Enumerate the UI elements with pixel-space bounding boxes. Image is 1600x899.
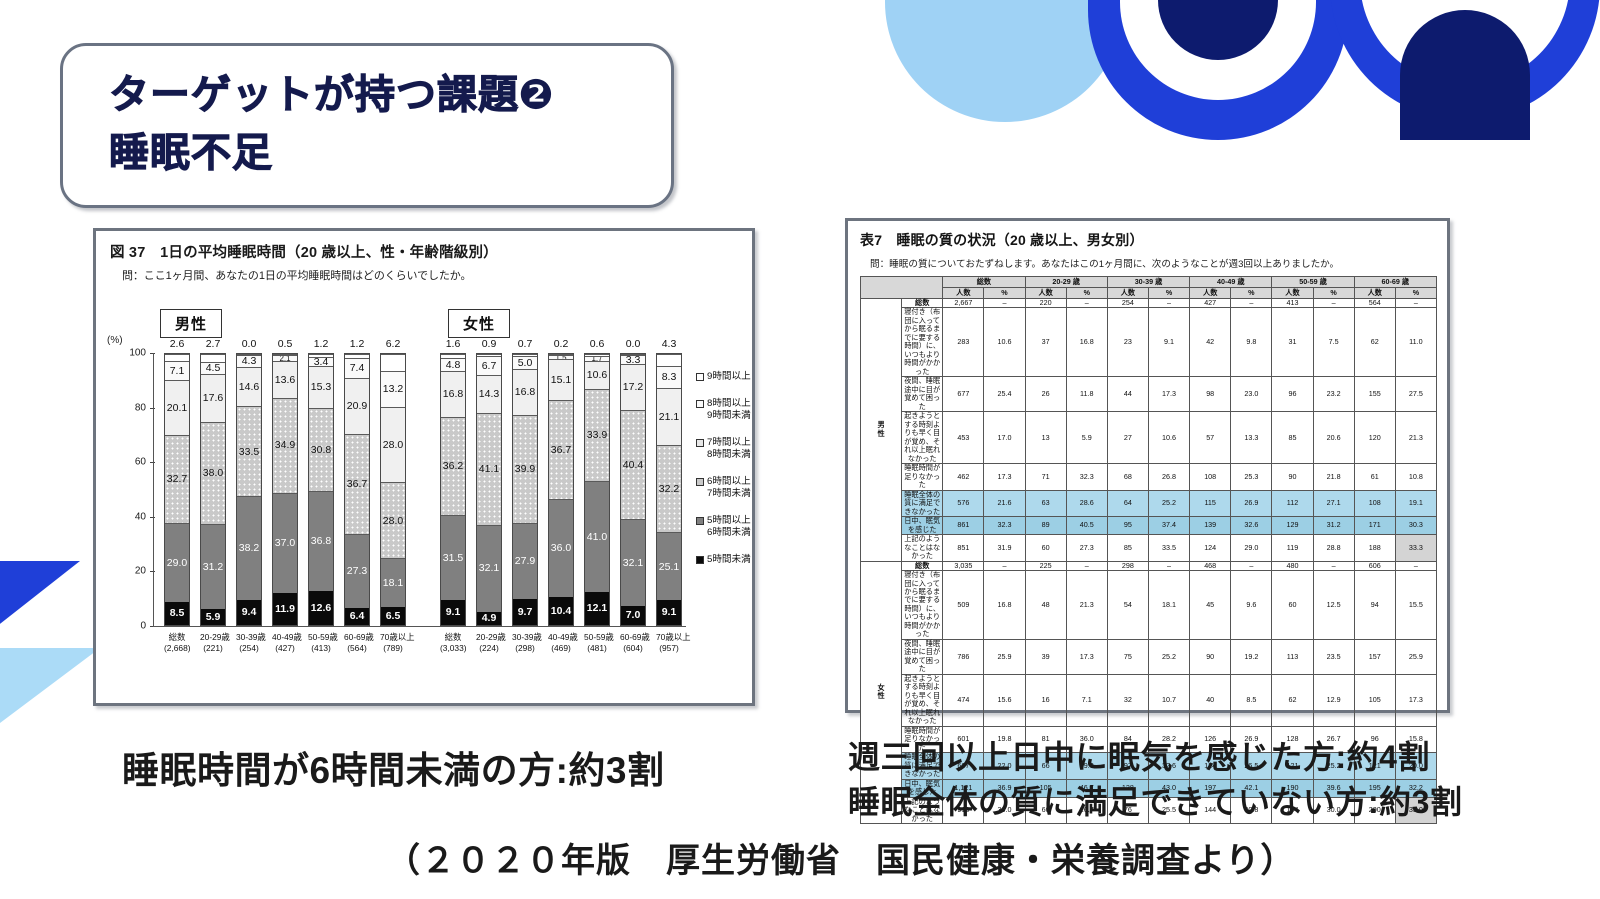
- x-axis-category-label: 20-29歳(221): [200, 632, 226, 655]
- table-item-label: 睡眠時間が足りなかった: [902, 464, 943, 490]
- bar-group: 4.39.125.132.221.18.370歳以上(957): [656, 353, 682, 626]
- stacked-bar-plot: 020406080100 2.68.529.032.720.17.1総数(2,6…: [126, 353, 686, 626]
- table-percent-cell: 10.8: [1395, 464, 1436, 490]
- x-label-name: 50-59歳: [584, 632, 614, 642]
- bar-segment-value: 36.7: [551, 445, 571, 456]
- table-head-row-ages: 総数20-29 歳30-39 歳40-49 歳50-59 歳60-69 歳: [861, 277, 1437, 288]
- table-sub-header: %: [1148, 288, 1189, 299]
- table-count-cell: 564: [1354, 299, 1395, 308]
- table-count-cell: 68: [1107, 464, 1148, 490]
- x-label-count: (957): [659, 643, 679, 653]
- table-count-cell: 157: [1354, 639, 1395, 674]
- bar-group: 0.511.937.034.913.62.140-49歳(427): [272, 353, 298, 626]
- table-percent-cell: 15.5: [1395, 571, 1436, 640]
- table-percent-cell: 21.3: [1066, 571, 1107, 640]
- bar-group: 0.210.436.036.715.11.540-49歳(469): [548, 353, 574, 626]
- bar-segment: 33.5: [237, 406, 261, 496]
- table-head: 総数20-29 歳30-39 歳40-49 歳50-59 歳60-69 歳 人数…: [861, 277, 1437, 299]
- table-count-cell: 63: [1025, 490, 1066, 516]
- table-percent-cell: 7.1: [1066, 674, 1107, 726]
- table-item-label: 寝付き（布団に入ってから眠るまでに要する時間）に、いつもより時間がかかった: [902, 308, 943, 377]
- table-percent-cell: 25.9: [1395, 639, 1436, 674]
- bar-segment-value: 37.0: [275, 538, 295, 549]
- y-tick-label: 100: [129, 348, 146, 359]
- bar-segment: 16.8: [441, 371, 465, 417]
- table-percent-cell: –: [1066, 299, 1107, 308]
- bar-segment-value: 18.1: [383, 578, 403, 589]
- table-item-label: 夜間、睡眠途中に目が覚めて困った: [902, 377, 943, 412]
- bar-segment-value: 12.6: [311, 603, 331, 614]
- table-count-cell: 16: [1025, 674, 1066, 726]
- legend-swatch-icon: [696, 400, 704, 408]
- x-label-name: 60-69歳: [620, 632, 650, 642]
- bar-segment-value: 7.1: [170, 366, 185, 377]
- table-count-cell: 42: [1190, 308, 1231, 377]
- table-sub-header: 人数: [1025, 288, 1066, 299]
- bar-segment-value: 10.6: [587, 370, 607, 381]
- bar-segment-value: 27.3: [347, 566, 367, 577]
- table-percent-cell: 7.5: [1313, 308, 1354, 377]
- figure-question: 問：ここ1ヶ月間、あなたの1日の平均睡眠時間はどのくらいでしたか。: [122, 267, 744, 283]
- table-item-label: 夜間、睡眠途中に目が覚めて困った: [902, 639, 943, 674]
- bar-segment: 12.6: [309, 591, 333, 625]
- table-count-cell: 254: [1107, 299, 1148, 308]
- x-label-count: (604): [623, 643, 643, 653]
- stacked-bar: 9.727.939.916.85.0: [512, 353, 538, 626]
- slide-title-line-2: 睡眠不足: [109, 124, 671, 182]
- stacked-bar: 9.438.233.514.64.3: [236, 353, 262, 626]
- caption-source: （２０２０年版 厚生労働省 国民健康・栄養調査より）: [386, 833, 1295, 882]
- stacked-bar: 12.636.830.815.33.4: [308, 353, 334, 626]
- x-label-name: 60-69歳: [344, 632, 374, 642]
- bar-segment-value: 36.7: [347, 479, 367, 490]
- bar-segment: 6.7: [477, 356, 501, 374]
- table-count-cell: 37: [1025, 308, 1066, 377]
- figure-title: 図 37 1日の平均睡眠時間（20 歳以上、性・年齢階級別）: [110, 241, 744, 262]
- table-count-cell: 108: [1190, 464, 1231, 490]
- table-age-header: 総数: [943, 277, 1025, 288]
- bar-segment: [237, 354, 261, 355]
- figure-label-male: 男性: [160, 309, 222, 338]
- bar-top-value-label: 2.7: [200, 338, 226, 350]
- table-count-cell: 188: [1354, 535, 1395, 561]
- x-label-name: 30-39歳: [236, 632, 266, 642]
- legend-label: 6時間以上7時間未満: [707, 476, 751, 500]
- x-label-count: (564): [347, 643, 367, 653]
- table-count-cell: 462: [943, 464, 984, 490]
- table-count-cell: 32: [1107, 674, 1148, 726]
- table-percent-cell: 21.8: [1313, 464, 1354, 490]
- table-sub-header: 人数: [1107, 288, 1148, 299]
- bar-segment: 30.8: [309, 408, 333, 491]
- table-count-cell: 85: [1107, 535, 1148, 561]
- bar-segment-value: 10.4: [551, 606, 571, 617]
- table-percent-cell: 25.2: [1148, 639, 1189, 674]
- table-percent-cell: 27.1: [1313, 490, 1354, 516]
- bar-segment: [201, 354, 225, 361]
- bar-segment: 40.4: [621, 410, 645, 519]
- bar-segment-value: 9.7: [518, 607, 533, 618]
- bar-segment-value: 13.6: [275, 375, 295, 386]
- bar-segment-value: 28.0: [383, 440, 403, 451]
- table-count-cell: 171: [1354, 517, 1395, 535]
- table-percent-cell: 26.9: [1231, 490, 1272, 516]
- bar-segment-value: 1.7: [591, 356, 602, 361]
- table-count-cell: 220: [1025, 299, 1066, 308]
- bar-group: 0.79.727.939.916.85.030-39歳(298): [512, 353, 538, 626]
- bar-group: 0.612.141.033.910.61.750-59歳(481): [584, 353, 610, 626]
- table-count-cell: 225: [1025, 561, 1066, 570]
- table-percent-cell: 32.3: [984, 517, 1025, 535]
- bar-group: 0.07.032.140.417.23.360-69歳(604): [620, 353, 646, 626]
- table-row: 男性総数2,667–220–254–427–413–564–: [861, 299, 1437, 308]
- x-label-name: 30-39歳: [512, 632, 542, 642]
- x-label-count: (413): [311, 643, 331, 653]
- bar-segment: 14.3: [477, 375, 501, 414]
- bar-segment-value: 1.5: [555, 355, 566, 359]
- bar-segment-value: 4.5: [206, 363, 221, 374]
- bar-segment-value: 13.2: [383, 384, 403, 395]
- table-percent-cell: 32.3: [1066, 464, 1107, 490]
- bar-segment: 15.1: [549, 359, 573, 400]
- table-item-label: 起きようとする時刻よりも早く目が覚め、それ以上眠れなかった: [902, 412, 943, 464]
- bar-segment: 5.9: [201, 609, 225, 625]
- bar-segment: [585, 354, 609, 356]
- bar-segment-value: 4.9: [482, 613, 497, 624]
- table-count-cell: 108: [1354, 490, 1395, 516]
- bar-segment-value: 17.2: [623, 382, 643, 393]
- x-axis-category-label: 30-39歳(254): [236, 632, 262, 655]
- bar-segment-value: 7.4: [350, 363, 365, 374]
- bar-segment: 1.5: [549, 355, 573, 359]
- x-label-count: (481): [587, 643, 607, 653]
- bar-segment-value: 15.1: [551, 375, 571, 386]
- bar-segment-value: 32.2: [659, 484, 679, 495]
- table-count-cell: 120: [1354, 412, 1395, 464]
- table-count-cell: 90: [1272, 464, 1313, 490]
- bar-segment: [345, 354, 369, 357]
- bar-top-value-label: 0.6: [584, 338, 610, 350]
- bar-segment-value: 16.8: [515, 387, 535, 398]
- legend-label: 9時間以上: [707, 371, 751, 383]
- table-percent-cell: 11.8: [1066, 377, 1107, 412]
- table-percent-cell: 29.0: [1231, 535, 1272, 561]
- bar-segment-value: 36.8: [311, 536, 331, 547]
- bar-segment: 1.7: [585, 356, 609, 361]
- table-item-label: 寝付き（布団に入ってから眠るまでに要する時間）に、いつもより時間がかかった: [902, 571, 943, 640]
- table-percent-cell: 25.2: [1148, 490, 1189, 516]
- x-label-count: (427): [275, 643, 295, 653]
- bar-segment-value: 39.9: [515, 464, 535, 475]
- table-count-cell: 64: [1107, 490, 1148, 516]
- stacked-bar: 6.518.128.028.013.2: [380, 353, 406, 626]
- table-percent-cell: –: [1395, 561, 1436, 570]
- bar-top-value-label: 0.9: [476, 338, 502, 350]
- table-percent-cell: 33.5: [1148, 535, 1189, 561]
- table-count-cell: 54: [1107, 571, 1148, 640]
- bar-segment-value: 38.2: [239, 543, 259, 554]
- bar-top-value-label: 1.6: [440, 338, 466, 350]
- bar-segment: 8.5: [165, 602, 189, 625]
- bar-segment-value: 38.0: [203, 468, 223, 479]
- decor-arc-royal-2: [1330, 0, 1600, 120]
- bar-segment-value: 36.2: [443, 461, 463, 472]
- table-percent-cell: 32.6: [1231, 517, 1272, 535]
- table-item-label: 起きようとする時刻よりも早く目が覚め、それ以上眠れなかった: [902, 674, 943, 726]
- bar-segment-value: 5.0: [518, 358, 533, 369]
- bar-segment: 4.8: [441, 358, 465, 371]
- stacked-bar: 12.141.033.910.61.7: [584, 353, 610, 626]
- bar-segment-value: 31.2: [203, 562, 223, 573]
- bar-segment: 28.0: [381, 482, 405, 558]
- bar-segment: 16.8: [513, 369, 537, 415]
- legend-item: 8時間以上9時間未満: [696, 398, 796, 422]
- table-count-cell: 119: [1272, 535, 1313, 561]
- bar-segment: 17.6: [201, 374, 225, 422]
- table-count-cell: 474: [943, 674, 984, 726]
- bar-segment: 32.1: [477, 525, 501, 612]
- table-row: 起きようとする時刻よりも早く目が覚め、それ以上眠れなかった45317.0135.…: [861, 412, 1437, 464]
- table-sub-header: %: [1395, 288, 1436, 299]
- legend-swatch-icon: [696, 373, 704, 381]
- y-tick-label: 20: [135, 566, 146, 577]
- x-label-count: (221): [203, 643, 223, 653]
- bar-segment: 7.1: [165, 361, 189, 380]
- bar-segment: 41.1: [477, 413, 501, 524]
- table-count-cell: 13: [1025, 412, 1066, 464]
- bar-segment-value: 14.3: [479, 389, 499, 400]
- bar-group: 0.94.932.141.114.36.720-29歳(224): [476, 353, 502, 626]
- table-count-cell: 2,667: [943, 299, 984, 308]
- table-count-cell: 427: [1190, 299, 1231, 308]
- x-label-name: 70歳以上: [380, 632, 414, 642]
- bar-segment: [549, 354, 573, 355]
- stacked-bar: 4.932.141.114.36.7: [476, 353, 502, 626]
- table-row: 夜間、睡眠途中に目が覚めて困った78625.93917.37525.29019.…: [861, 639, 1437, 674]
- bar-segment: 6.5: [381, 607, 405, 625]
- table-percent-cell: 26.8: [1148, 464, 1189, 490]
- table-percent-cell: 17.0: [984, 412, 1025, 464]
- x-axis-category-label: 20-29歳(224): [476, 632, 502, 655]
- table-count-cell: 57: [1190, 412, 1231, 464]
- table-count-cell: 113: [1272, 639, 1313, 674]
- stacked-bar: 9.131.536.216.84.8: [440, 353, 466, 626]
- bar-segment: [273, 354, 297, 355]
- x-axis-category-label: 40-49歳(427): [272, 632, 298, 655]
- table-age-header: 40-49 歳: [1190, 277, 1272, 288]
- bar-group: 2.75.931.238.017.64.520-29歳(221): [200, 353, 226, 626]
- table-corner-cell: [861, 277, 943, 299]
- bar-segment: 36.7: [345, 434, 369, 533]
- table-count-cell: 96: [1272, 377, 1313, 412]
- bar-segment-value: 15.3: [311, 382, 331, 393]
- bar-segment: 13.6: [273, 361, 297, 398]
- bar-segment-value: 36.0: [551, 543, 571, 554]
- x-axis-category-label: 50-59歳(413): [308, 632, 334, 655]
- table-percent-cell: 17.3: [1066, 639, 1107, 674]
- table-count-cell: 44: [1107, 377, 1148, 412]
- bar-segment-value: 5.9: [206, 612, 221, 623]
- table-count-cell: 3,035: [943, 561, 984, 570]
- table-percent-cell: –: [1066, 561, 1107, 570]
- bar-segment: 15.3: [309, 366, 333, 407]
- table-item-label: 上記のようなことはなかった: [902, 535, 943, 561]
- table-percent-cell: –: [1231, 561, 1272, 570]
- bar-group: 0.09.438.233.514.64.330-39歳(254): [236, 353, 262, 626]
- table-head-row-sub: 人数%人数%人数%人数%人数%人数%: [861, 288, 1437, 299]
- legend-swatch-icon: [696, 517, 704, 525]
- table-percent-cell: 9.8: [1231, 308, 1272, 377]
- table-count-cell: 509: [943, 571, 984, 640]
- table-percent-cell: 37.4: [1148, 517, 1189, 535]
- legend-label: 5時間以上6時間未満: [707, 515, 751, 539]
- bar-top-value-label: 4.3: [656, 338, 682, 350]
- table-percent-cell: 17.3: [984, 464, 1025, 490]
- table-percent-cell: –: [1395, 299, 1436, 308]
- table-count-cell: 129: [1272, 517, 1313, 535]
- bar-segment-value: 7.0: [626, 610, 641, 621]
- table-count-cell: 413: [1272, 299, 1313, 308]
- table-percent-cell: –: [984, 299, 1025, 308]
- bar-segment: 2.1: [273, 355, 297, 361]
- table-count-cell: 480: [1272, 561, 1313, 570]
- table-percent-cell: 17.3: [1148, 377, 1189, 412]
- table-panel: 表7 睡眠の質の状況（20 歳以上、男女別） 問：睡眠の質についておたずねします…: [845, 218, 1450, 713]
- bar-segment-value: 20.9: [347, 401, 367, 412]
- table-percent-cell: 25.4: [984, 377, 1025, 412]
- bar-segment: 39.9: [513, 415, 537, 523]
- table-count-cell: 45: [1190, 571, 1231, 640]
- y-tick-label: 80: [135, 402, 146, 413]
- x-axis-category-label: 60-69歳(564): [344, 632, 370, 655]
- bar-segment-value: 14.6: [239, 382, 259, 393]
- bar-segment-value: 3.3: [626, 355, 641, 364]
- table-count-cell: 468: [1190, 561, 1231, 570]
- bar-segment-value: 25.1: [659, 562, 679, 573]
- stacked-bar: 8.529.032.720.17.1: [164, 353, 190, 626]
- x-axis-category-label: 60-69歳(604): [620, 632, 646, 655]
- y-axis-line: [153, 353, 154, 626]
- bar-segment-value: 40.4: [623, 460, 643, 471]
- table-count-cell: 60: [1025, 535, 1066, 561]
- legend-item: 6時間以上7時間未満: [696, 476, 796, 500]
- table-count-cell: 40: [1190, 674, 1231, 726]
- table-percent-cell: 27.3: [1066, 535, 1107, 561]
- table-count-cell: 98: [1190, 377, 1231, 412]
- table-count-cell: 62: [1354, 308, 1395, 377]
- table-row: 夜間、睡眠途中に目が覚めて困った67725.42611.84417.39823.…: [861, 377, 1437, 412]
- table-percent-cell: 40.5: [1066, 517, 1107, 535]
- table-sub-header: %: [1313, 288, 1354, 299]
- x-axis-category-label: 50-59歳(481): [584, 632, 610, 655]
- stacked-bar: 9.125.132.221.18.3: [656, 353, 682, 626]
- table-percent-cell: 31.2: [1313, 517, 1354, 535]
- bar-segment: 29.0: [165, 523, 189, 602]
- bar-segment: 38.2: [237, 496, 261, 599]
- x-label-name: 20-29歳: [200, 632, 230, 642]
- table-row: 睡眠全体の質に満足できなかった57621.66328.66425.211526.…: [861, 490, 1437, 516]
- table-percent-cell: 21.6: [984, 490, 1025, 516]
- table-percent-cell: 11.0: [1395, 308, 1436, 377]
- table-sub-header: 人数: [1354, 288, 1395, 299]
- decor-arc-white-2: [1360, 0, 1570, 85]
- table-count-cell: 39: [1025, 639, 1066, 674]
- table-age-header: 50-59 歳: [1272, 277, 1354, 288]
- bar-group: 1.212.636.830.815.33.450-59歳(413): [308, 353, 334, 626]
- table-count-cell: 31: [1272, 308, 1313, 377]
- table-count-cell: 27: [1107, 412, 1148, 464]
- table-count-cell: 23: [1107, 308, 1148, 377]
- x-label-count: (224): [479, 643, 499, 653]
- table-percent-cell: –: [1231, 299, 1272, 308]
- bar-segment-value: 8.5: [170, 608, 185, 619]
- bar-segment: 32.1: [621, 519, 645, 606]
- legend-item: 5時間未満: [696, 554, 796, 566]
- stacked-bar: 5.931.238.017.64.5: [200, 353, 226, 626]
- bar-segment: 34.9: [273, 398, 297, 493]
- bar-segment: 8.3: [657, 366, 681, 388]
- table-age-header: 30-39 歳: [1107, 277, 1189, 288]
- table-count-cell: 62: [1272, 674, 1313, 726]
- table-percent-cell: 19.1: [1395, 490, 1436, 516]
- x-axis-category-label: 総数(3,033): [440, 632, 466, 655]
- bar-segment: 28.0: [381, 407, 405, 483]
- table-row: 上記のようなことはなかった85131.96027.38533.512429.01…: [861, 535, 1437, 561]
- table-percent-cell: 23.0: [1231, 377, 1272, 412]
- decor-arc-white-1: [1120, 0, 1316, 100]
- x-label-count: (254): [239, 643, 259, 653]
- bar-segment-value: 20.1: [167, 403, 187, 414]
- x-label-count: (469): [551, 643, 571, 653]
- table-age-header: 20-29 歳: [1025, 277, 1107, 288]
- legend-item: 5時間以上6時間未満: [696, 515, 796, 539]
- table-count-cell: 85: [1272, 412, 1313, 464]
- figure-y-unit: (%): [107, 335, 123, 346]
- bar-segment-value: 28.0: [383, 516, 403, 527]
- y-tick-label: 60: [135, 457, 146, 468]
- bar-segment-value: 11.9: [275, 604, 295, 615]
- table-count-cell: 677: [943, 377, 984, 412]
- table-count-cell: 115: [1190, 490, 1231, 516]
- figure-legend: 9時間以上8時間以上9時間未満7時間以上8時間未満6時間以上7時間未満5時間以上…: [696, 371, 796, 581]
- table-row: 寝付き（布団に入ってから眠るまでに要する時間）に、いつもより時間がかかった283…: [861, 308, 1437, 377]
- table-count-cell: 61: [1354, 464, 1395, 490]
- bar-segment: 33.9: [585, 389, 609, 481]
- table-count-cell: 89: [1025, 517, 1066, 535]
- bar-segment: 7.4: [345, 358, 369, 378]
- table-count-cell: 124: [1190, 535, 1231, 561]
- bar-segment: 31.2: [201, 524, 225, 609]
- table-percent-cell: –: [1313, 561, 1354, 570]
- table-percent-cell: 25.9: [984, 639, 1025, 674]
- legend-swatch-icon: [696, 556, 704, 564]
- table-count-cell: 26: [1025, 377, 1066, 412]
- bar-segment: 3.3: [621, 355, 645, 364]
- x-label-name: 50-59歳: [308, 632, 338, 642]
- x-axis-category-label: 70歳以上(957): [656, 632, 682, 655]
- bar-segment: 21.1: [657, 388, 681, 445]
- table-sub-header: 人数: [943, 288, 984, 299]
- x-label-name: 40-49歳: [272, 632, 302, 642]
- bar-segment: 36.7: [549, 400, 573, 499]
- bar-segment: 17.2: [621, 364, 645, 410]
- table-count-cell: 94: [1354, 571, 1395, 640]
- bar-segment-value: 9.1: [446, 607, 461, 618]
- decor-arc-navy-2: [1400, 10, 1530, 140]
- caption-right-line-2: 睡眠全体の質に満足できていない方:約3割: [848, 777, 1462, 823]
- bar-segment: 38.0: [201, 422, 225, 525]
- table-percent-cell: 18.1: [1148, 571, 1189, 640]
